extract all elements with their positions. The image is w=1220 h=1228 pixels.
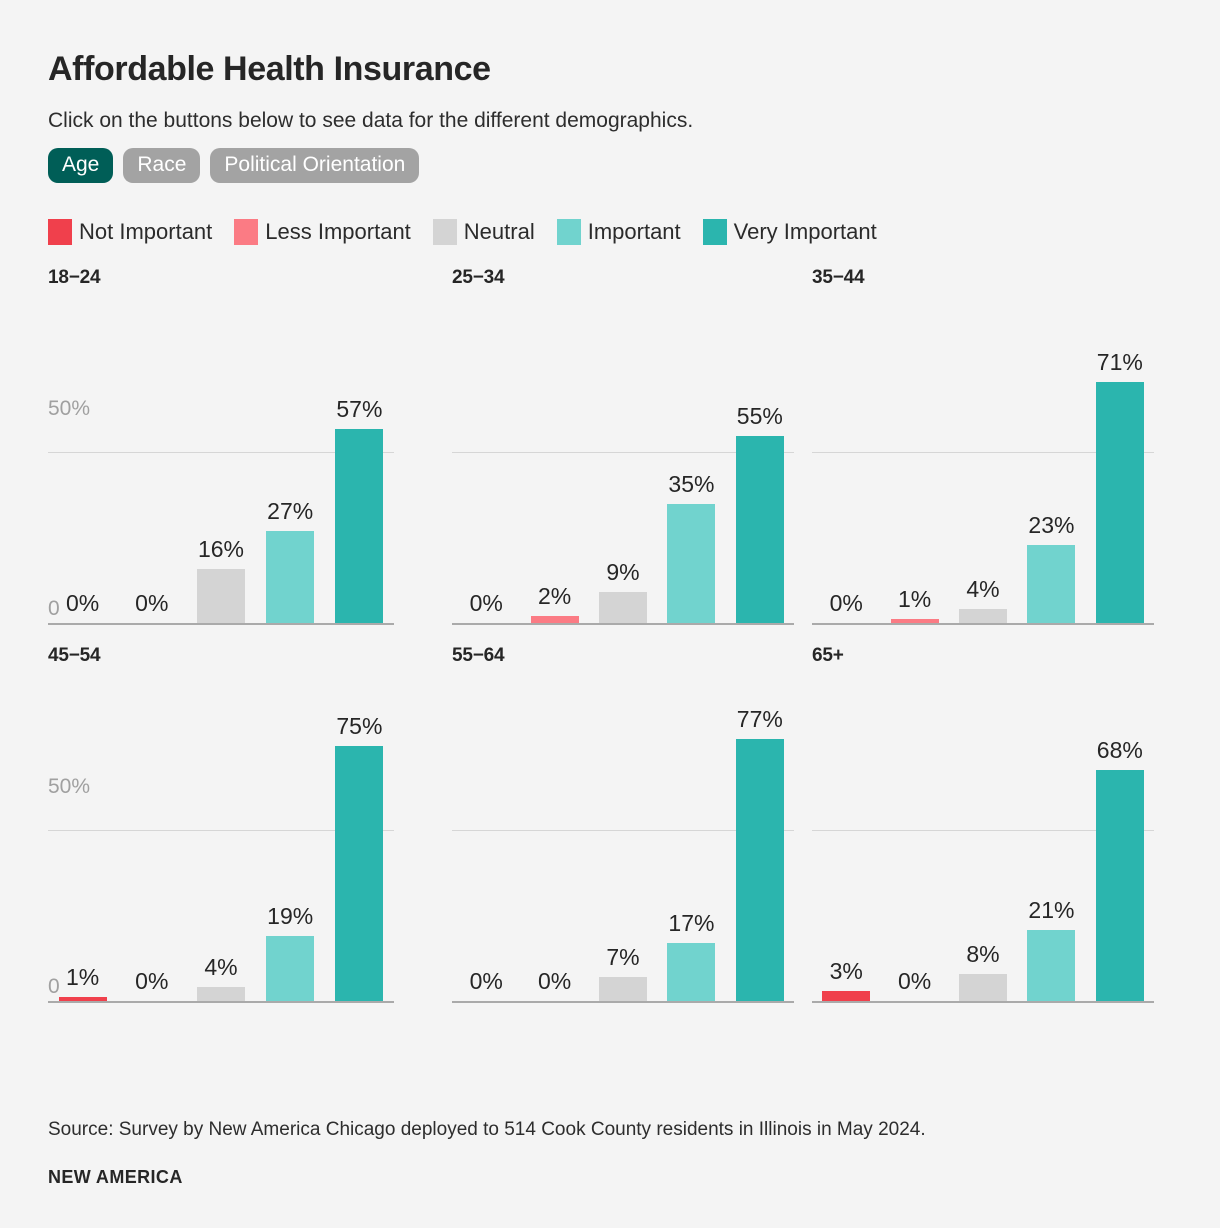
bar[interactable]: 4% <box>197 987 245 1001</box>
bar-value-label: 0% <box>898 968 931 995</box>
bar[interactable]: 21% <box>1027 930 1075 1001</box>
bar-value-label: 21% <box>1028 897 1074 924</box>
bar-value-label: 75% <box>336 713 382 740</box>
bar-slot: 0% <box>812 351 880 623</box>
legend-item-important[interactable]: Important <box>557 219 681 245</box>
bar-slot: 0% <box>452 729 520 1001</box>
bar-slot: 4% <box>949 351 1017 623</box>
bar-value-label: 17% <box>668 910 714 937</box>
bar-value-label: 3% <box>830 958 863 985</box>
bar[interactable]: 7% <box>599 977 647 1001</box>
bar[interactable]: 23% <box>1027 545 1075 623</box>
bar-value-label: 0% <box>470 968 503 995</box>
bar-group: 0%0%16%27%57% <box>48 351 394 623</box>
bar-slot: 35% <box>657 351 725 623</box>
bar-slot: 0% <box>117 351 186 623</box>
source-note: Source: Survey by New America Chicago de… <box>48 1119 1172 1141</box>
bar-value-label: 55% <box>737 403 783 430</box>
legend-swatch-icon <box>234 219 258 245</box>
bar-value-label: 35% <box>668 471 714 498</box>
plot-area: 0%0%7%17%77% <box>452 691 812 1003</box>
chart-panel-title: 55−64 <box>452 645 812 669</box>
chart-panel: 55−640%0%7%17%77% <box>452 645 812 1023</box>
page-title: Affordable Health Insurance <box>48 0 1172 91</box>
plot-area: 0%1%4%23%71% <box>812 313 1172 625</box>
bar-slot: 21% <box>1017 729 1085 1001</box>
bar-value-label: 8% <box>966 941 999 968</box>
demographic-button-age[interactable]: Age <box>48 148 113 183</box>
legend-swatch-icon <box>48 219 72 245</box>
demographic-button-political-orientation[interactable]: Political Orientation <box>210 148 419 183</box>
chart-panel-title: 18−24 <box>48 267 452 291</box>
bar[interactable]: 19% <box>266 936 314 1001</box>
bar-slot: 17% <box>657 729 725 1001</box>
bar-group: 1%0%4%19%75% <box>48 729 394 1001</box>
bar[interactable]: 4% <box>959 609 1007 623</box>
demographic-button-race[interactable]: Race <box>123 148 200 183</box>
bar-value-label: 19% <box>267 903 313 930</box>
axis-baseline <box>812 623 1154 625</box>
legend-item-less-important[interactable]: Less Important <box>234 219 411 245</box>
bar[interactable]: 75% <box>335 746 383 1001</box>
bar-value-label: 4% <box>204 954 237 981</box>
bar[interactable]: 35% <box>667 504 715 623</box>
legend-item-neutral[interactable]: Neutral <box>433 219 535 245</box>
chart-panel-title: 45−54 <box>48 645 452 669</box>
bar-slot: 0% <box>520 729 588 1001</box>
bar-slot: 71% <box>1086 351 1154 623</box>
bar[interactable]: 16% <box>197 569 245 623</box>
legend-swatch-icon <box>557 219 581 245</box>
plot-area: 0%2%9%35%55% <box>452 313 812 625</box>
bar-group: 0%0%7%17%77% <box>452 729 794 1001</box>
legend-label: Not Important <box>79 219 212 245</box>
bar-value-label: 0% <box>830 590 863 617</box>
chart-footer: Source: Survey by New America Chicago de… <box>48 1119 1172 1188</box>
bar-value-label: 1% <box>66 964 99 991</box>
chart-panel: 45−5450%01%0%4%19%75% <box>48 645 452 1023</box>
legend-label: Less Important <box>265 219 411 245</box>
chart-panel: 65+3%0%8%21%68% <box>812 645 1172 1023</box>
legend-swatch-icon <box>433 219 457 245</box>
bar-slot: 0% <box>117 729 186 1001</box>
bar-slot: 75% <box>325 729 394 1001</box>
bar[interactable]: 1% <box>59 997 107 1001</box>
chart-panel: 18−2450%00%0%16%27%57% <box>48 267 452 645</box>
bar-group: 0%2%9%35%55% <box>452 351 794 623</box>
bar-value-label: 77% <box>737 706 783 733</box>
bar[interactable]: 9% <box>599 592 647 623</box>
bar-value-label: 71% <box>1097 349 1143 376</box>
bar[interactable]: 17% <box>667 943 715 1001</box>
bar[interactable]: 27% <box>266 531 314 623</box>
bar-slot: 55% <box>726 351 794 623</box>
bar-slot: 7% <box>589 729 657 1001</box>
bar[interactable]: 2% <box>531 616 579 623</box>
bar-slot: 23% <box>1017 351 1085 623</box>
bar-group: 0%1%4%23%71% <box>812 351 1154 623</box>
bar-value-label: 9% <box>606 559 639 586</box>
chart-panel: 35−440%1%4%23%71% <box>812 267 1172 645</box>
bar[interactable]: 68% <box>1096 770 1144 1001</box>
axis-baseline <box>452 1001 794 1003</box>
bar-slot: 57% <box>325 351 394 623</box>
bar[interactable]: 55% <box>736 436 784 623</box>
small-multiples-grid: 18−2450%00%0%16%27%57%25−340%2%9%35%55%3… <box>48 267 1172 1023</box>
axis-area: 0%1%4%23%71% <box>812 313 1154 625</box>
chart-legend: Not Important Less Important Neutral Imp… <box>48 219 1172 245</box>
legend-label: Neutral <box>464 219 535 245</box>
plot-area: 3%0%8%21%68% <box>812 691 1172 1003</box>
bar-slot: 4% <box>186 729 255 1001</box>
bar-slot: 0% <box>48 351 117 623</box>
bar-slot: 2% <box>520 351 588 623</box>
bar-slot: 0% <box>452 351 520 623</box>
chart-page: Affordable Health Insurance Click on the… <box>0 0 1220 1228</box>
bar-slot: 0% <box>880 729 948 1001</box>
bar-value-label: 0% <box>135 968 168 995</box>
bar-value-label: 7% <box>606 944 639 971</box>
bar-slot: 3% <box>812 729 880 1001</box>
demographic-button-group: Age Race Political Orientation <box>48 148 1172 183</box>
bar-slot: 9% <box>589 351 657 623</box>
legend-swatch-icon <box>703 219 727 245</box>
axis-area: 0%2%9%35%55% <box>452 313 794 625</box>
axis-baseline <box>452 623 794 625</box>
bar[interactable]: 1% <box>891 619 939 623</box>
axis-baseline <box>48 1001 394 1003</box>
legend-label: Very Important <box>734 219 877 245</box>
bar[interactable]: 71% <box>1096 382 1144 623</box>
legend-label: Important <box>588 219 681 245</box>
chart-panel-title: 35−44 <box>812 267 1172 291</box>
bar-slot: 27% <box>256 351 325 623</box>
bar[interactable]: 57% <box>335 429 383 623</box>
bar-slot: 19% <box>256 729 325 1001</box>
brand-wordmark: NEW AMERICA <box>48 1167 1172 1188</box>
page-subtitle: Click on the buttons below to see data f… <box>48 91 1172 134</box>
bar-value-label: 0% <box>538 968 571 995</box>
bar-value-label: 0% <box>135 590 168 617</box>
bar-value-label: 4% <box>966 576 999 603</box>
bar-value-label: 68% <box>1097 737 1143 764</box>
legend-item-very-important[interactable]: Very Important <box>703 219 877 245</box>
bar-value-label: 57% <box>336 396 382 423</box>
chart-panel-title: 65+ <box>812 645 1172 669</box>
bar-value-label: 16% <box>198 536 244 563</box>
bar-slot: 68% <box>1086 729 1154 1001</box>
bar-slot: 8% <box>949 729 1017 1001</box>
bar[interactable]: 77% <box>736 739 784 1001</box>
bar-value-label: 23% <box>1028 512 1074 539</box>
bar-value-label: 27% <box>267 498 313 525</box>
bar-value-label: 0% <box>66 590 99 617</box>
axis-area: 50%01%0%4%19%75% <box>48 691 394 1003</box>
bar-value-label: 0% <box>470 590 503 617</box>
plot-area: 50%00%0%16%27%57% <box>48 313 452 625</box>
axis-baseline <box>48 623 394 625</box>
bar-slot: 1% <box>48 729 117 1001</box>
bar-group: 3%0%8%21%68% <box>812 729 1154 1001</box>
bar[interactable]: 3% <box>822 991 870 1001</box>
bar-slot: 16% <box>186 351 255 623</box>
legend-item-not-important[interactable]: Not Important <box>48 219 212 245</box>
axis-area: 3%0%8%21%68% <box>812 691 1154 1003</box>
axis-area: 0%0%7%17%77% <box>452 691 794 1003</box>
bar-slot: 1% <box>880 351 948 623</box>
bar-value-label: 2% <box>538 583 571 610</box>
bar-value-label: 1% <box>898 586 931 613</box>
bar[interactable]: 8% <box>959 974 1007 1001</box>
bar-slot: 77% <box>726 729 794 1001</box>
plot-area: 50%01%0%4%19%75% <box>48 691 452 1003</box>
axis-area: 50%00%0%16%27%57% <box>48 313 394 625</box>
chart-panel-title: 25−34 <box>452 267 812 291</box>
axis-baseline <box>812 1001 1154 1003</box>
chart-panel: 25−340%2%9%35%55% <box>452 267 812 645</box>
